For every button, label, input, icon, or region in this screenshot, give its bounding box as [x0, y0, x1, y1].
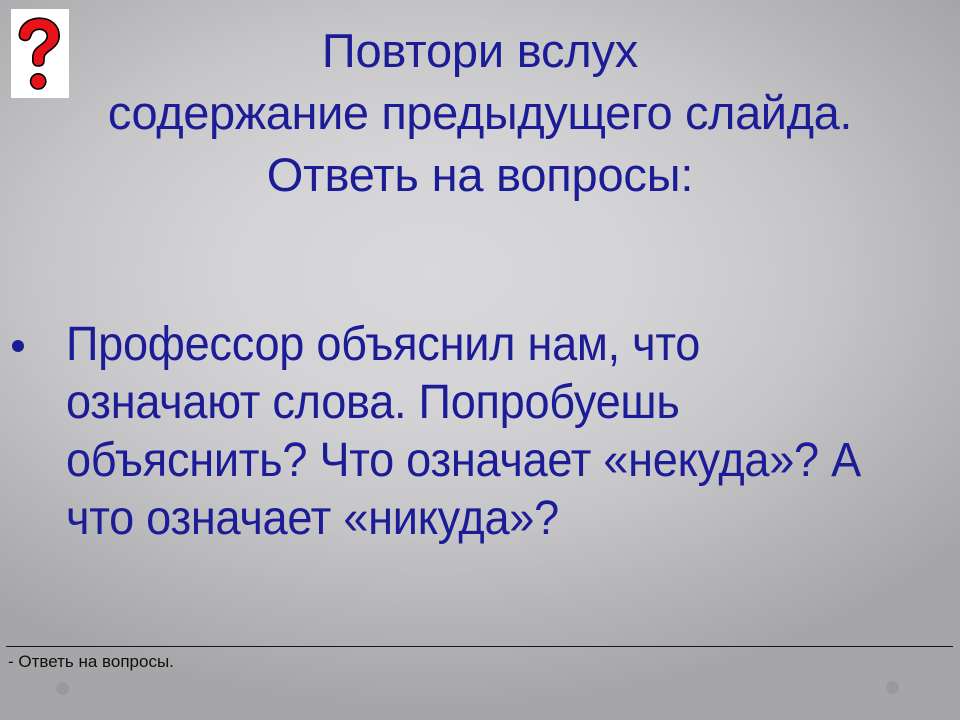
title-line-2: содержание предыдущего слайда.	[0, 82, 960, 144]
title-line-1: Повтори вслух	[0, 20, 960, 82]
title-line-3: Ответь на вопросы:	[0, 144, 960, 206]
bullet-text: Профессор объяснил нам, что означают сло…	[66, 316, 880, 548]
footer-divider	[6, 646, 953, 647]
bullet-dot-icon	[12, 340, 24, 352]
slide-title: Повтори вслух содержание предыдущего сла…	[0, 20, 960, 206]
decorative-dot-right	[886, 681, 899, 694]
slide-body: Профессор объяснил нам, что означают сло…	[0, 316, 960, 548]
slide-canvas: Повтори вслух содержание предыдущего сла…	[0, 0, 960, 720]
decorative-dot-left	[56, 682, 69, 695]
footer-note: - Ответь на вопросы.	[8, 651, 174, 673]
bullet-item: Профессор объяснил нам, что означают сло…	[0, 316, 960, 548]
